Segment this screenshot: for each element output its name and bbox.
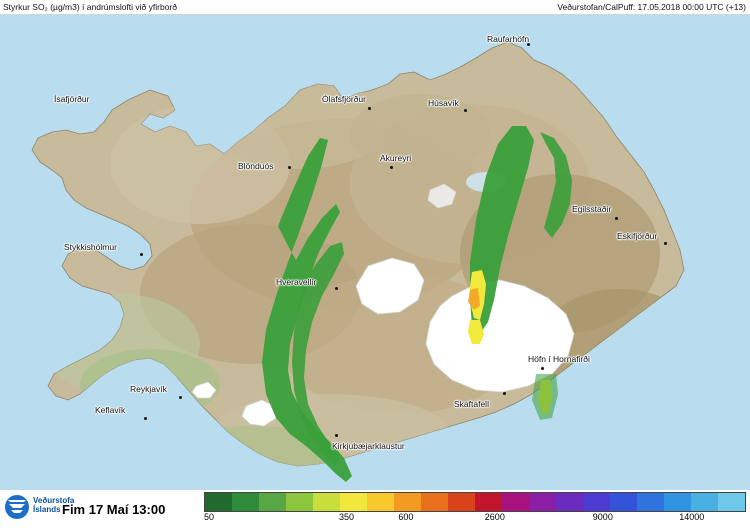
legend-swatch-10 — [475, 493, 502, 511]
place-dot-olafsfjordur — [368, 107, 371, 110]
place-dot-egilsstadir — [615, 217, 618, 220]
vedurstofa-logo-icon — [4, 494, 30, 520]
iceland-map-svg — [0, 14, 750, 490]
legend-swatch-18 — [691, 493, 718, 511]
legend-swatch-8 — [421, 493, 448, 511]
place-dot-skaftafell — [503, 392, 506, 395]
header-source-timestamp: Veðurstofan/CalPuff: 17.05.2018 00:00 UT… — [557, 2, 746, 12]
place-dot-reykjavik — [179, 396, 182, 399]
legend-swatch-6 — [367, 493, 394, 511]
place-label-eskifjordur: Eskifjörður — [617, 231, 657, 241]
legend-swatch-14 — [583, 493, 610, 511]
legend-swatch-5 — [340, 493, 367, 511]
legend-tick-9000: 9000 — [593, 512, 613, 522]
place-dot-husavik — [464, 109, 467, 112]
legend-tick-labels: 503506002600900014000 — [204, 512, 748, 524]
legend-swatch-16 — [637, 493, 664, 511]
legend-swatch-9 — [448, 493, 475, 511]
header-bar: Styrkur SO₂ (µg/m3) í andrúmslofti við y… — [0, 0, 750, 15]
footer-bar: Veðurstofa Íslands Fim 17 Maí 13:00 5035… — [0, 490, 750, 532]
legend-swatch-15 — [610, 493, 637, 511]
place-dot-kirkjubaejarklaustur — [335, 434, 338, 437]
map-application: Styrkur SO₂ (µg/m3) í andrúmslofti við y… — [0, 0, 750, 532]
legend-tick-2600: 2600 — [485, 512, 505, 522]
legend-swatch-7 — [394, 493, 421, 511]
place-label-stykkisholmur: Stykkishólmur — [64, 242, 117, 252]
legend-tick-50: 50 — [204, 512, 214, 522]
place-label-hofn: Höfn í Hornafirði — [528, 354, 590, 364]
place-label-skaftafell: Skaftafell — [454, 399, 489, 409]
legend-swatch-17 — [664, 493, 691, 511]
legend-swatch-0 — [205, 493, 232, 511]
place-dot-hofn — [541, 367, 544, 370]
place-dot-akureyri — [390, 166, 393, 169]
place-label-olafsfjordur: Ólafsfjörður — [322, 94, 366, 104]
place-label-hveravellir: Hveravellir — [276, 277, 316, 287]
legend-swatch-2 — [259, 493, 286, 511]
legend-swatch-1 — [232, 493, 259, 511]
place-label-keflavik: Keflavík — [95, 405, 125, 415]
legend-color-bar — [204, 492, 746, 512]
place-dot-blonduos — [288, 166, 291, 169]
place-label-blonduos: Blönduós — [238, 161, 273, 171]
place-label-reykjavik: Reykjavík — [130, 384, 167, 394]
place-label-husavik: Húsavík — [428, 98, 459, 108]
legend-tick-14000: 14000 — [679, 512, 704, 522]
legend-swatch-12 — [529, 493, 556, 511]
place-dot-stykkisholmur — [140, 253, 143, 256]
legend-tick-350: 350 — [339, 512, 354, 522]
place-label-akureyri: Akureyri — [380, 153, 411, 163]
legend-swatch-13 — [556, 493, 583, 511]
legend-tick-600: 600 — [398, 512, 413, 522]
legend-swatch-4 — [313, 493, 340, 511]
header-title: Styrkur SO₂ (µg/m3) í andrúmslofti við y… — [3, 2, 177, 12]
legend-swatch-3 — [286, 493, 313, 511]
frame-timestamp: Fim 17 Maí 13:00 — [62, 502, 165, 517]
place-label-kirkjubaejarklaustur: Kirkjubæjarklaustur — [332, 441, 405, 451]
map-canvas[interactable]: Ísafjörður Raufarhöfn Ólafsfjörður Húsav… — [0, 14, 750, 490]
place-dot-keflavik — [144, 417, 147, 420]
place-label-raufarhofn: Raufarhöfn — [487, 34, 529, 44]
legend-swatch-11 — [502, 493, 529, 511]
place-label-egilsstadir: Egilsstaðir — [572, 204, 611, 214]
place-dot-eskifjordur — [664, 242, 667, 245]
place-label-isafjordur: Ísafjörður — [54, 94, 89, 104]
legend-swatch-19 — [718, 493, 745, 511]
place-dot-hveravellir — [335, 287, 338, 290]
